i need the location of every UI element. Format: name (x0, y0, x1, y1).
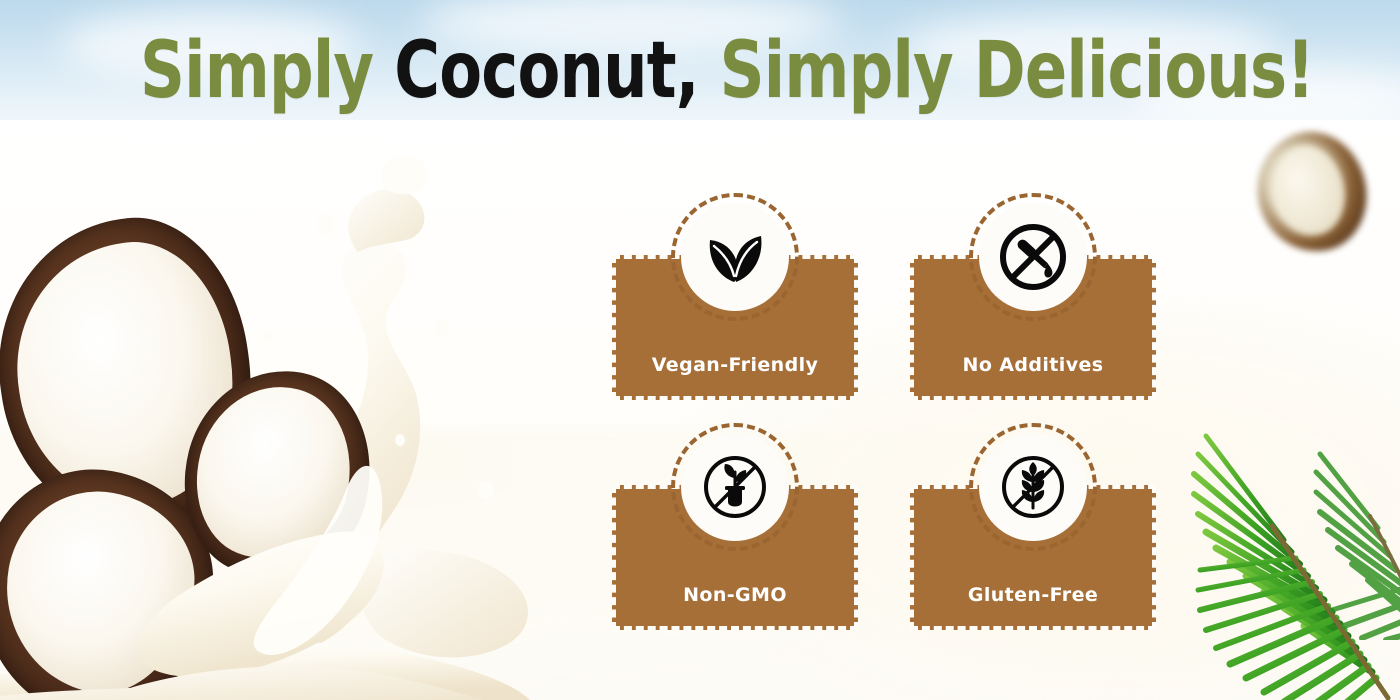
coconut-milk-splash-foreground (0, 140, 610, 700)
milk-splash-front-svg (0, 140, 610, 700)
feature-badge (671, 193, 799, 321)
feature-badge (969, 193, 1097, 321)
feature-card-no-additives[interactable]: No Additives (910, 255, 1156, 400)
palm-frond-secondary-decor (1290, 430, 1400, 640)
headline-part-1: Simply (140, 26, 394, 116)
feature-badge (969, 423, 1097, 551)
no-wheat-icon (996, 450, 1070, 524)
no-test-tube-plant-icon (698, 450, 772, 524)
feature-card-label: Gluten-Free (910, 584, 1156, 606)
page-title: Simply Coconut, Simply Delicious! (140, 28, 1260, 114)
palm-frond-secondary-svg (1290, 430, 1400, 640)
feature-card-label: No Additives (910, 354, 1156, 376)
feature-card-label: Vegan-Friendly (612, 354, 858, 376)
feature-card-label: Non-GMO (612, 584, 858, 606)
feature-card-gluten-free[interactable]: Gluten-Free (910, 485, 1156, 630)
no-dropper-icon (996, 220, 1070, 294)
feature-card-non-gmo[interactable]: Non-GMO (612, 485, 858, 630)
headline-part-2: Coconut, (394, 26, 699, 116)
feature-badge (671, 423, 799, 551)
feature-card-vegan-friendly[interactable]: Vegan-Friendly (612, 255, 858, 400)
feature-card-grid: Vegan-Friendly (612, 195, 1158, 635)
banner-stage: Simply Coconut, Simply Delicious! Vegan-… (0, 0, 1400, 700)
headline-part-3: Simply Delicious! (699, 26, 1314, 116)
two-leaves-icon (698, 220, 772, 294)
